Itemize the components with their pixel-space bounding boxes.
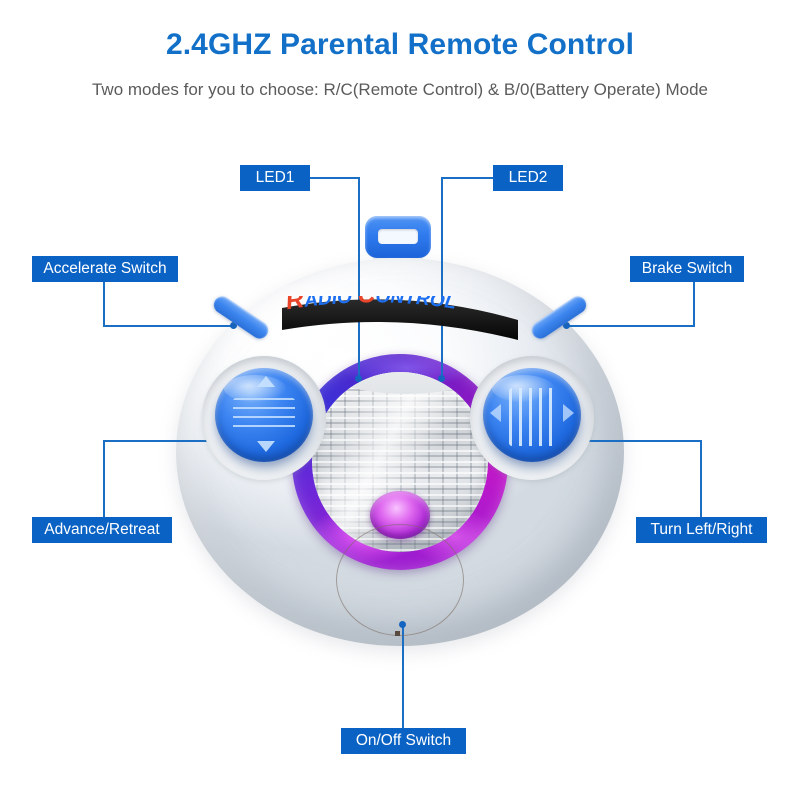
leader-line-accelerate-switch bbox=[103, 325, 233, 327]
turn-left-right-joystick[interactable] bbox=[483, 368, 581, 462]
advance-retreat-joystick-well bbox=[202, 356, 326, 480]
callout-led1[interactable]: LED1 bbox=[240, 165, 310, 191]
product-infographic: 2.4GHZ Parental Remote Control Two modes… bbox=[0, 0, 800, 800]
leader-line-led2 bbox=[441, 177, 443, 378]
arrow-down-icon bbox=[257, 441, 275, 452]
arrow-up-icon bbox=[257, 376, 275, 387]
radio-control-logo: RADIO CONTROL bbox=[280, 296, 520, 344]
callout-led2[interactable]: LED2 bbox=[493, 165, 563, 191]
leader-line-turn-left-right bbox=[700, 440, 702, 518]
hanging-handle[interactable] bbox=[365, 216, 431, 258]
joystick-ridges bbox=[509, 388, 557, 446]
callout-advance-retreat[interactable]: Advance/Retreat bbox=[32, 517, 172, 543]
page-title: 2.4GHZ Parental Remote Control bbox=[0, 28, 800, 62]
leader-line-on-off-switch bbox=[402, 625, 404, 728]
leader-dot-led1 bbox=[355, 375, 362, 382]
battery-cover-notch bbox=[395, 631, 400, 636]
leader-line-brake-switch bbox=[566, 325, 695, 327]
leader-line-led1 bbox=[358, 177, 360, 378]
callout-turn-left-right[interactable]: Turn Left/Right bbox=[636, 517, 767, 543]
leader-line-led2 bbox=[441, 177, 493, 179]
joystick-ridges bbox=[233, 398, 295, 434]
callout-brake-switch[interactable]: Brake Switch bbox=[630, 256, 744, 282]
advance-retreat-joystick[interactable] bbox=[215, 368, 313, 462]
arrow-right-icon bbox=[563, 404, 574, 422]
turn-left-right-joystick-well bbox=[470, 356, 594, 480]
leader-line-brake-switch bbox=[693, 282, 695, 327]
remote-control-illustration: RADIO CONTROL bbox=[176, 246, 624, 646]
arrow-left-icon bbox=[490, 404, 501, 422]
callout-on-off-switch[interactable]: On/Off Switch bbox=[341, 728, 466, 754]
leader-line-advance-retreat bbox=[103, 440, 105, 518]
battery-cover-outline bbox=[336, 524, 464, 636]
page-subtitle: Two modes for you to choose: R/C(Remote … bbox=[0, 80, 800, 100]
leader-dot-led2 bbox=[438, 375, 445, 382]
leader-line-led1 bbox=[310, 177, 360, 179]
leader-line-accelerate-switch bbox=[103, 282, 105, 327]
callout-accelerate-switch[interactable]: Accelerate Switch bbox=[32, 256, 178, 282]
